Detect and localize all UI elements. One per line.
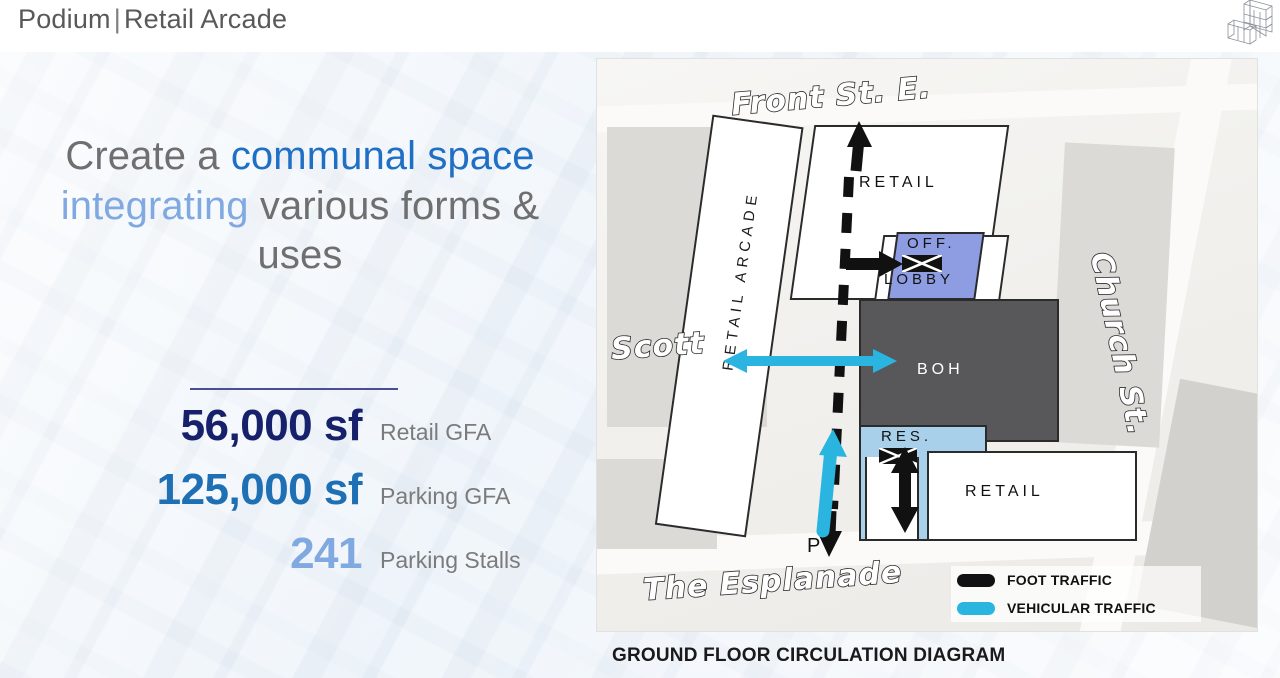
map-label-boh: BOH [917,361,964,379]
headline-part-1: Create a [65,134,230,178]
stat-label-parking-gfa: Parking GFA [380,483,560,510]
wireframe-building-logo-icon [1220,0,1276,50]
slide-header: Podium|Retail Arcade [0,0,1280,52]
map-zone-res-inner-court [865,457,919,541]
stat-row: 56,000 sf Retail GFA [40,397,560,455]
title-sub: Retail Arcade [124,4,287,34]
legend-label-foot-traffic: FOOT TRAFFIC [1007,572,1112,588]
stats-list: 56,000 sf Retail GFA 125,000 sf Parking … [40,397,560,589]
map-label-parking-entrance: P [807,535,820,558]
map-label-office-lobby-line2: LOBBY [884,271,954,288]
headline-part-3: integrating [61,184,249,228]
headline-part-4: various forms & uses [249,184,540,278]
title-main: Podium [18,4,111,34]
headline-part-2: communal space [231,134,535,178]
map-label-retail-top: RETAIL [859,174,938,192]
page-title: Podium|Retail Arcade [18,4,287,35]
legend-item-vehicular-traffic: VEHICULAR TRAFFIC [951,594,1201,622]
legend-item-foot-traffic: FOOT TRAFFIC [951,566,1201,594]
map-stair-hatch-res-icon [879,448,917,464]
stat-label-retail-gfa: Retail GFA [380,419,560,446]
stat-row: 125,000 sf Parking GFA [40,461,560,519]
map-street-label-scott: Scott [610,326,706,367]
stat-value-retail-gfa: 56,000 sf [42,397,362,455]
map-legend: FOOT TRAFFIC VEHICULAR TRAFFIC [951,566,1201,622]
stat-value-parking-stalls: 241 [42,525,362,583]
map-label-retail-arcade: RETAIL ARCADE [716,166,765,396]
slide-body: Create a communal space integrating vari… [0,52,1280,678]
stat-label-parking-stalls: Parking Stalls [380,547,560,574]
stat-row: 241 Parking Stalls [40,525,560,583]
legend-swatch-vehicular-traffic [957,602,995,615]
map-label-res: RES. [881,428,932,445]
map-stair-hatch-lobby-icon [902,255,942,272]
map-caption: GROUND FLOOR CIRCULATION DIAGRAM [612,645,1005,667]
legend-swatch-foot-traffic [957,574,995,587]
title-separator: | [111,4,124,34]
headline-text: Create a communal space integrating vari… [60,132,540,281]
section-divider [190,388,398,390]
stat-value-parking-gfa: 125,000 sf [42,461,362,519]
map-label-retail-bottom: RETAIL [965,483,1044,501]
ground-floor-circulation-map: RETAIL OFF. LOBBY BOH RES. RETAIL RETAIL… [596,58,1258,632]
map-label-office-lobby-line1: OFF. [907,235,956,252]
legend-label-vehicular-traffic: VEHICULAR TRAFFIC [1007,600,1156,616]
